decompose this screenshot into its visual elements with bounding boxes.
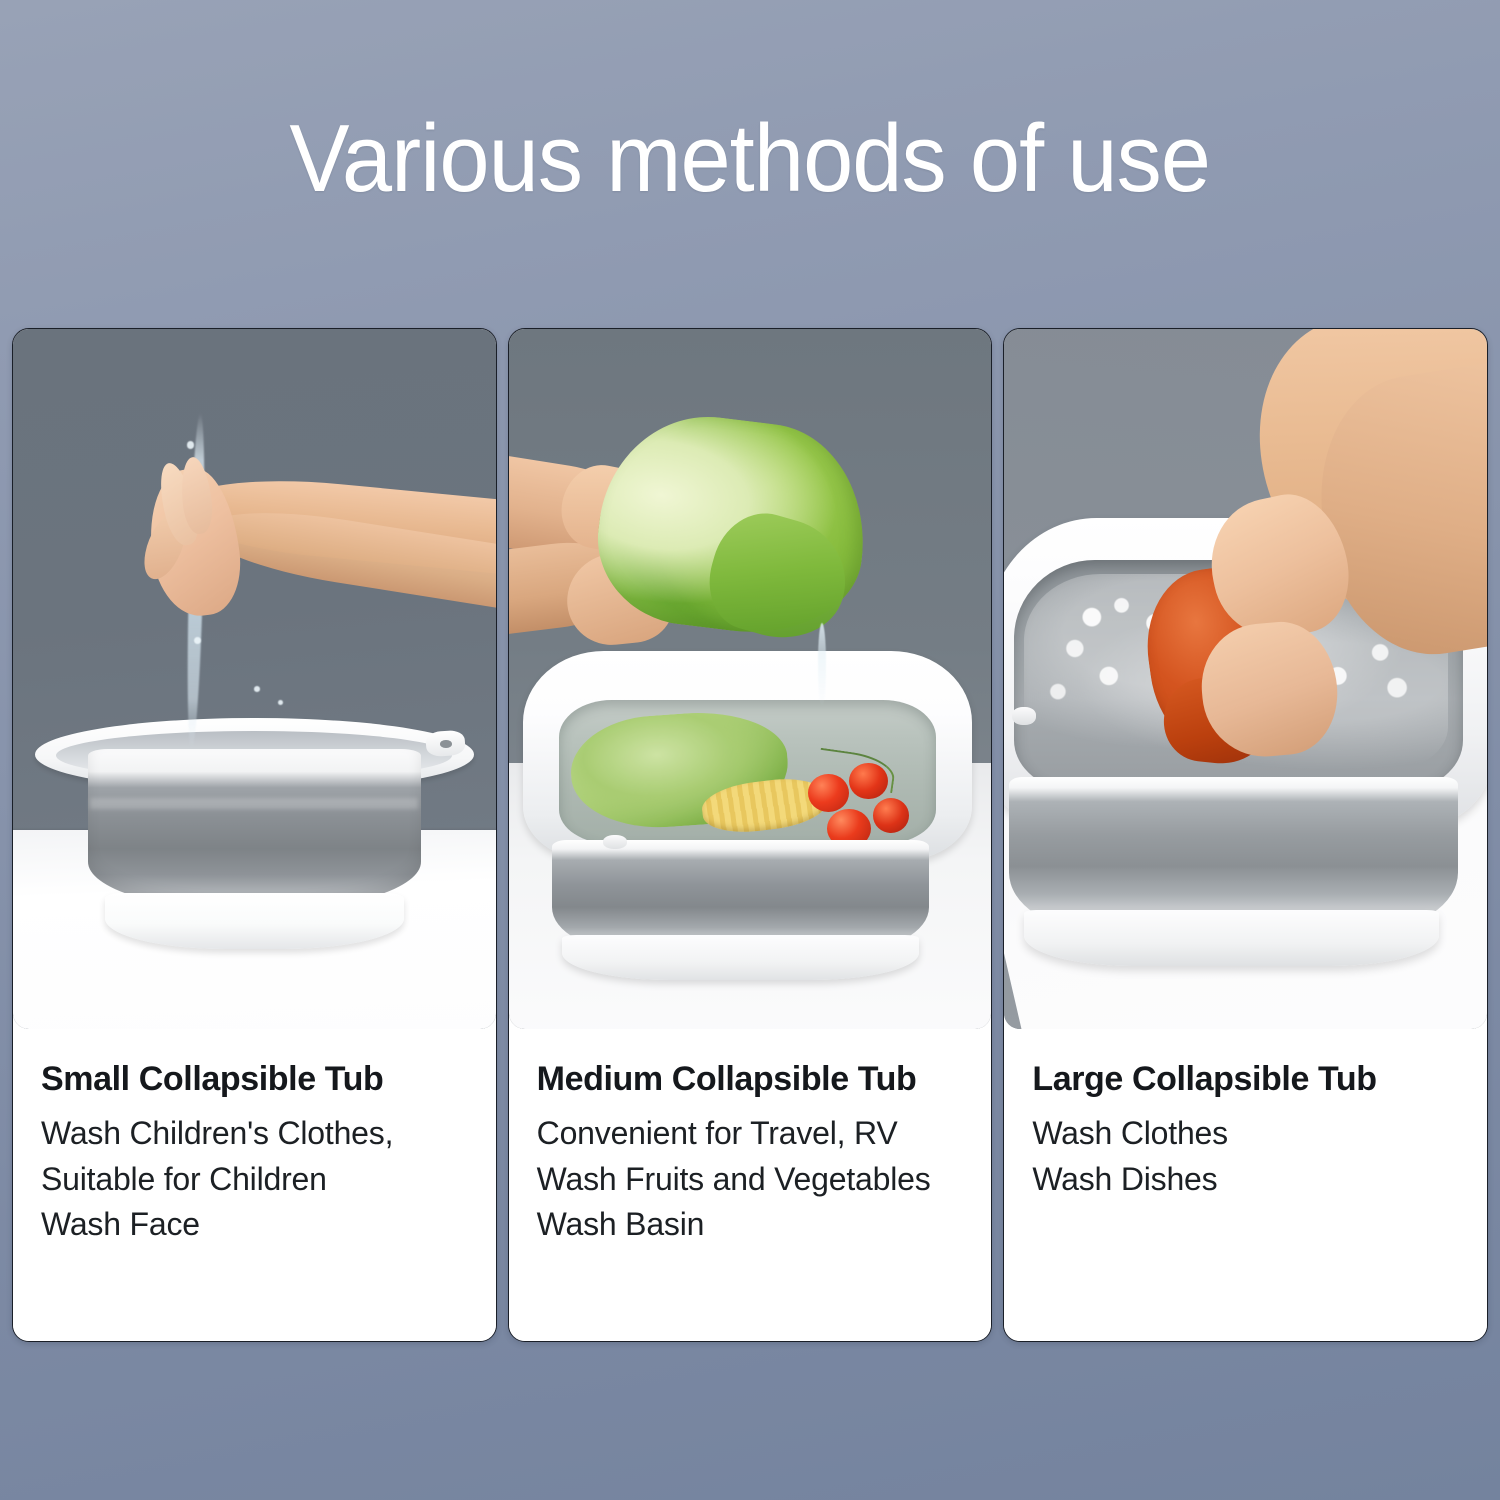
card-title-small: Small Collapsible Tub — [41, 1059, 468, 1099]
caption-small: Small Collapsible Tub Wash Children's Cl… — [13, 1029, 496, 1341]
card-line-1: Convenient for Travel, RV — [537, 1111, 964, 1156]
water-droplet-icon — [187, 441, 195, 449]
card-line-2: Wash Dishes — [1032, 1157, 1459, 1202]
tub-handle-icon — [603, 835, 627, 849]
card-title-medium: Medium Collapsible Tub — [537, 1059, 964, 1099]
card-line-1: Wash Clothes — [1032, 1111, 1459, 1156]
product-photo-small-tub — [13, 329, 496, 1029]
tub-fold-band-icon — [90, 798, 418, 809]
cherry-tomato-icon — [849, 763, 888, 799]
card-line-2: Suitable for Children — [41, 1157, 468, 1202]
card-line-2: Wash Fruits and Vegetables — [537, 1157, 964, 1202]
use-case-card-row: Small Collapsible Tub Wash Children's Cl… — [12, 328, 1488, 1344]
tub-body-icon — [88, 749, 421, 910]
card-line-3: Wash Face — [41, 1202, 468, 1247]
cherry-tomato-icon — [873, 798, 909, 833]
tub-hang-hole-icon — [440, 740, 452, 748]
water-droplet-icon — [254, 686, 260, 692]
use-case-card-small[interactable]: Small Collapsible Tub Wash Children's Cl… — [12, 328, 497, 1342]
tub-base-icon — [562, 935, 919, 981]
tub-handle-icon — [1012, 707, 1036, 725]
tub-base-icon — [105, 893, 404, 949]
product-photo-medium-tub — [509, 329, 992, 1029]
page-title: Various methods of use — [290, 111, 1211, 207]
tub-base-icon — [1024, 910, 1439, 966]
water-droplet-icon — [818, 623, 827, 707]
use-case-card-medium[interactable]: Medium Collapsible Tub Convenient for Tr… — [508, 328, 993, 1342]
water-droplet-icon — [194, 637, 201, 644]
card-title-large: Large Collapsible Tub — [1032, 1059, 1459, 1099]
caption-large: Large Collapsible Tub Wash Clothes Wash … — [1004, 1029, 1487, 1341]
cherry-tomato-icon — [808, 774, 849, 813]
use-case-card-large[interactable]: Large Collapsible Tub Wash Clothes Wash … — [1003, 328, 1488, 1342]
card-line-1: Wash Children's Clothes, — [41, 1111, 468, 1156]
product-photo-large-tub — [1004, 329, 1487, 1029]
header-banner: Various methods of use — [0, 0, 1500, 318]
tub-body-icon — [1009, 777, 1458, 931]
caption-medium: Medium Collapsible Tub Convenient for Tr… — [509, 1029, 992, 1341]
card-line-3: Wash Basin — [537, 1202, 964, 1247]
